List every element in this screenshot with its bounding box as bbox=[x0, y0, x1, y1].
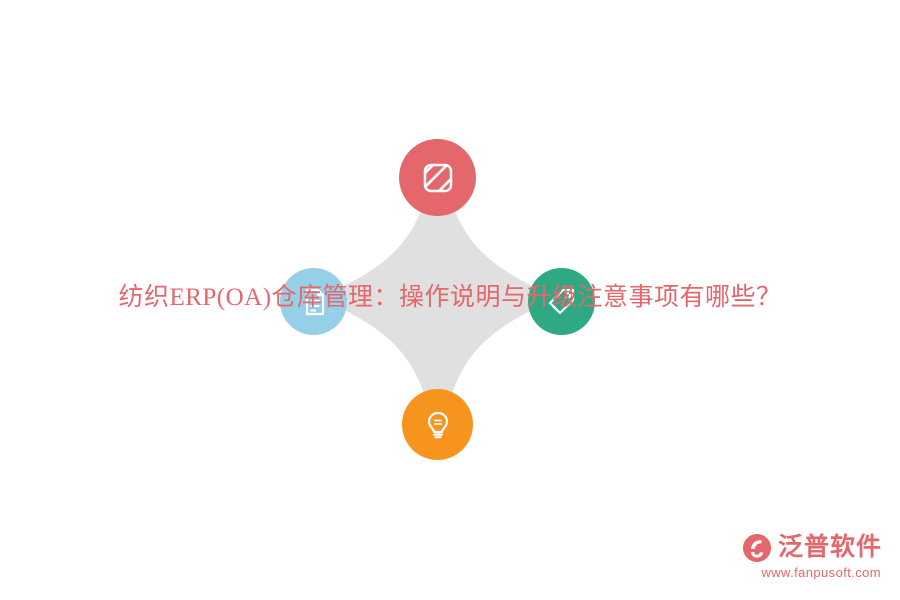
brand-name: 泛普软件 bbox=[778, 534, 882, 562]
fanpu-logo-icon bbox=[742, 533, 772, 563]
brand-watermark: 泛普软件 www.fanpusoft.com bbox=[742, 533, 882, 580]
page-title: 纺织ERP(OA)仓库管理：操作说明与升级注意事项有哪些？ bbox=[0, 282, 900, 314]
striped-square-icon bbox=[421, 161, 455, 195]
node-bottom-lightbulb[interactable] bbox=[402, 389, 473, 460]
poster-canvas: 纺织ERP(OA)仓库管理：操作说明与升级注意事项有哪些？ 泛普软件 www.f… bbox=[0, 0, 900, 600]
brand-row: 泛普软件 bbox=[742, 533, 882, 563]
brand-url: www.fanpusoft.com bbox=[761, 565, 881, 580]
node-top-striped-square[interactable] bbox=[399, 139, 476, 216]
lightbulb-icon bbox=[422, 409, 454, 441]
